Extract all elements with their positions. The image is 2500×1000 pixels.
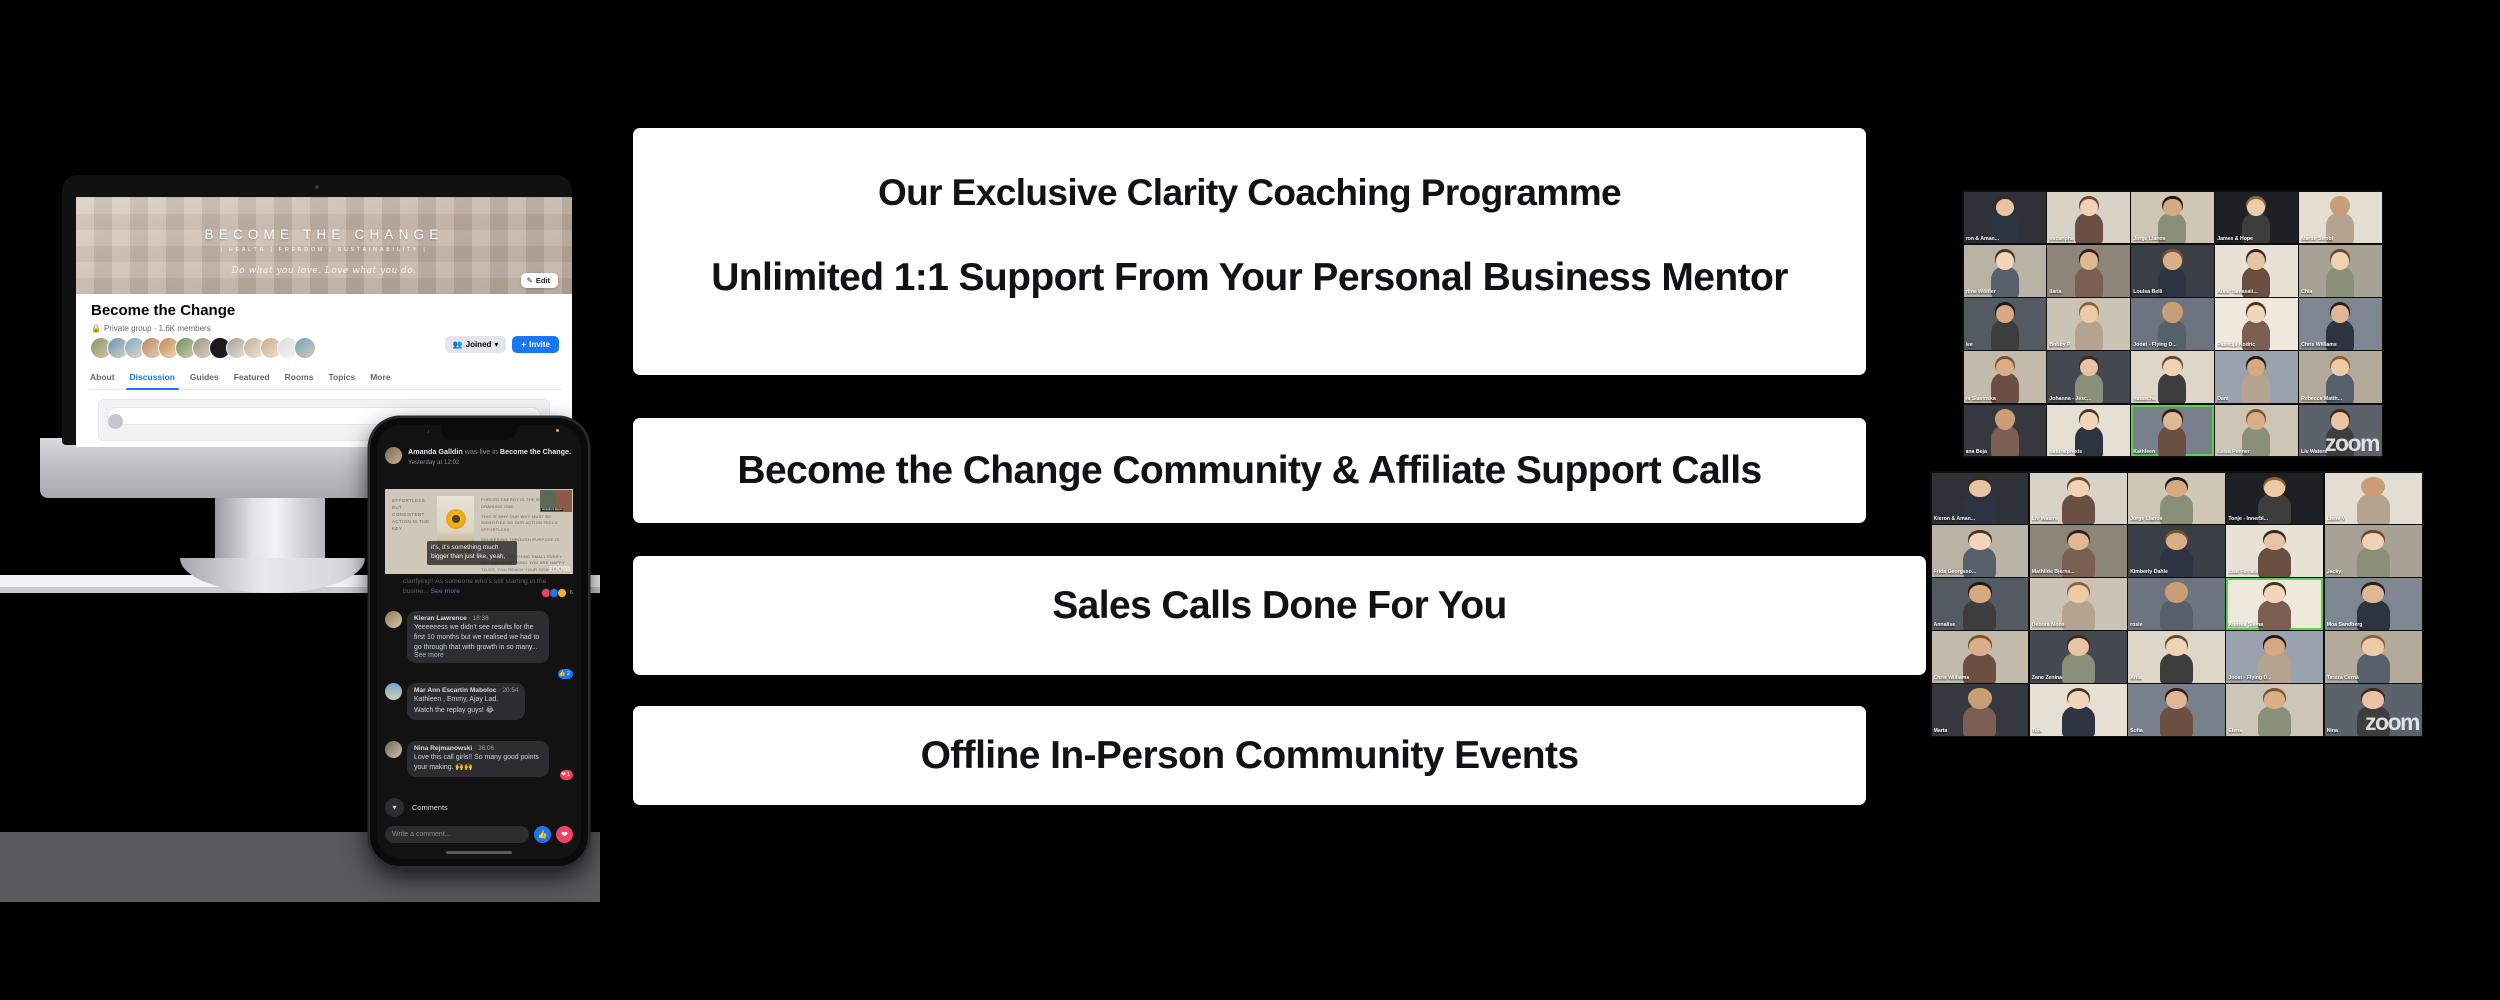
participant-body [2357, 547, 2390, 577]
chevron-down-icon: ▾ [494, 340, 498, 349]
fb-member-avatars [90, 337, 316, 359]
imac-display: BECOME THE CHANGE | HEALTH | FREEDOM | S… [62, 175, 572, 445]
participant-body [2242, 373, 2270, 403]
fb-cover-tagline: Do what you love. Love what you do. [76, 266, 572, 276]
participant-name-label: naturalpraxis [2049, 449, 2082, 455]
participant-face [2362, 638, 2383, 655]
avatar [385, 741, 402, 758]
participant-body [2158, 267, 2186, 297]
zoom-participant-tile[interactable]: Patricija Kodric [2215, 298, 2297, 350]
participant-name-label: Liene V [2327, 516, 2345, 522]
zoom-participant-tile[interactable]: rtine Wölfler [1964, 245, 2046, 297]
fb-cover-subtitle: | HEALTH | FREEDOM | SUSTAINABILITY | [76, 247, 572, 253]
care-reaction-icon [557, 588, 567, 598]
fb-live-video-player[interactable]: EFFORTLESS BUT CONSISTENT ACTION IS THE … [385, 489, 573, 574]
zoom-participant-tile[interactable]: ra Slavinska [1964, 351, 2046, 403]
zoom-participant-tile[interactable]: Chris Williams [1932, 631, 2029, 682]
card-sales: Sales Calls Done For You [633, 556, 1926, 675]
tab-featured[interactable]: Featured [234, 372, 270, 382]
fb-comment-text: Yeeeeeess we didn't see results for the … [414, 623, 542, 652]
poster-canvas:  BECOME THE CHANGE | HEALTH | FREEDOM |… [0, 0, 2500, 1000]
participant-body [2158, 426, 2186, 456]
participant-name-label: Ilaria [2049, 289, 2061, 295]
participant-name-label: Aiste Tamasait... [2217, 289, 2258, 295]
fb-comments-toggle-row[interactable]: ▾ Comments [385, 798, 573, 817]
participant-face [2080, 199, 2098, 217]
zoom-participant-tile[interactable]: Bobby P [2047, 298, 2129, 350]
participant-name-label: natascha [2133, 396, 2156, 402]
avatar [294, 337, 316, 359]
plus-icon: + [521, 340, 526, 349]
iphone-device: ♪ Amanda Galldin was live in Become the … [370, 418, 588, 866]
participant-name-label: Tereza Černá [2327, 675, 2359, 681]
participant-name-label: Frida Georgsso... [1934, 569, 1977, 575]
zoom-grid-bottom: zoom Kieron & Aman...Liv WatersJorge Lla… [1930, 471, 2423, 737]
participant-body [2062, 653, 2095, 683]
fb-post-action: was live in [463, 447, 500, 456]
zoom-participant-tile[interactable]: oscarlpha [2047, 192, 2129, 244]
participant-face [2264, 638, 2285, 655]
participant-name-label: Andrea Slama [2228, 622, 2263, 628]
card-clarity: Our Exclusive Clarity Coaching Programme… [633, 128, 1866, 375]
zoom-participant-tile[interactable]: Martin Strobl [2299, 192, 2381, 244]
participant-body [2160, 653, 2193, 683]
zoom-participant-tile[interactable]: Luisa Penner [2215, 405, 2297, 457]
card-community-heading: Become the Change Community & Affiliate … [737, 449, 1761, 493]
participant-name-label: Chris Williams [2301, 342, 2337, 348]
participant-face [2247, 252, 2265, 270]
comment-timestamp: 20:54 [502, 687, 518, 694]
zoom-participant-tile[interactable]: Annalise [1932, 578, 2029, 629]
participant-body [2062, 600, 2095, 630]
fb-post-header: Amanda Galldin was live in Become the Ch… [385, 447, 573, 466]
zoom-participant-tile[interactable]: Jorge Llanos [2131, 192, 2213, 244]
fb-comment-input-row: Write a comment... 👍 ❤ [385, 826, 573, 843]
tab-rooms[interactable]: Rooms [285, 372, 314, 382]
status-bar-icon: ♪ [427, 429, 430, 435]
participant-name-label: ra Slavinska [1966, 396, 1996, 402]
zoom-participant-tile[interactable]: Kathleen [2131, 405, 2213, 457]
home-indicator [446, 851, 512, 854]
participant-name-label: Tonje - Innerbl... [2228, 516, 2268, 522]
participant-name-label: Jorge Llanos [2130, 516, 2162, 522]
participant-face [2080, 412, 2098, 430]
fb-group-name: Become the Change [91, 302, 235, 319]
zoom-participant-tile[interactable]: Chia [2299, 245, 2381, 297]
participant-body [2062, 706, 2095, 736]
zoom-participant-tile[interactable]: ron & Aman... [1964, 192, 2046, 244]
fb-comment-text-2: Watch the replay guys! 😂 [414, 706, 518, 716]
lock-icon: 🔒 [91, 324, 101, 333]
participant-face [2264, 691, 2285, 708]
participant-body [2160, 600, 2193, 630]
slide-bullet-2: THIS IS WHY OUR WHY MUST BE IDENTIFIED S… [481, 514, 569, 534]
participant-name-label: lee [1966, 342, 1973, 348]
zoom-participant-tile[interactable]: Joost - Flying D... [2131, 298, 2213, 350]
participant-face [2362, 533, 2383, 550]
fb-joined-button[interactable]: 👥 Joined ▾ [445, 336, 507, 353]
fb-comment-truncated-text: clarifying!! As someone who's still star… [403, 578, 546, 595]
participant-face [2163, 412, 2181, 430]
comment-author-name: Mar Ann Escartin Maboloc [414, 687, 497, 694]
participant-name-label: Jacky [2327, 569, 2341, 575]
participant-face [2362, 480, 2383, 497]
participant-name-label: Chia [2301, 289, 2312, 295]
participant-body [2075, 213, 2103, 243]
separator-dot: · [474, 745, 476, 752]
participant-name-label: oscarlpha [2049, 236, 2074, 242]
zoom-participant-tile[interactable]: Jorge Llanos [2128, 473, 2225, 524]
fb-post-group: Become the Change. [500, 447, 571, 456]
zoom-participant-tile[interactable]: Debora Moos [2030, 578, 2127, 629]
reaction-count: 2 [567, 671, 570, 677]
avatar [385, 611, 402, 628]
fb-post-byline: Amanda Galldin was live in Become the Ch… [408, 447, 571, 457]
participant-face [2166, 638, 2187, 655]
like-button[interactable]: 👍 [534, 826, 551, 843]
participant-face [2068, 533, 2089, 550]
participant-name-label: ana Beja [1966, 449, 1987, 455]
zoom-participant-tile[interactable]: Joost - Flying D... [2226, 631, 2323, 682]
reaction-count: 1 [567, 772, 570, 778]
zoom-participant-tile[interactable]: Andrea Slama [2226, 578, 2323, 629]
like-reaction-icon: 👍 [559, 671, 566, 677]
comment-timestamp: 18:38 [473, 615, 489, 622]
participant-name-label: Kimberly Dahle [2130, 569, 2168, 575]
fb-comment-bubble: Kieran Lawrence · 18:38 Yeeeeeess we did… [407, 611, 549, 663]
zoom-participant-tile[interactable]: Jacky [2325, 525, 2422, 576]
fb-comment-bubble: Mar Ann Escartin Maboloc · 20:54 Kathlee… [407, 683, 525, 720]
participant-name-label: Elena [2228, 728, 2242, 734]
fb-comment-reaction-badge[interactable]: ❤ 1 [560, 770, 573, 780]
participant-face [2166, 533, 2187, 550]
fb-joined-label: Joined [466, 340, 492, 349]
participant-face [1996, 412, 2014, 430]
participant-body [2357, 494, 2390, 524]
comment-input[interactable]: Write a comment... [385, 826, 529, 843]
tab-about[interactable]: About [90, 372, 115, 382]
participant-body [2326, 426, 2354, 456]
participant-face [2362, 585, 2383, 602]
participant-name-label: Kathleen [2133, 449, 2155, 455]
participant-body [1991, 320, 2019, 350]
fb-reaction-cluster[interactable]: 6 [541, 588, 573, 598]
fb-post-author: Amanda Galldin [408, 447, 463, 456]
fb-comment-truncated: clarifying!! As someone who's still star… [403, 577, 551, 597]
participant-face [2080, 252, 2098, 270]
comment-author-name: Nina Rejmanowski [414, 745, 472, 752]
participant-face [2163, 359, 2181, 377]
participant-body [2075, 320, 2103, 350]
zoom-participant-tile[interactable]: James & Hope [2215, 192, 2297, 244]
pip-name-label: Amanda & Kieron [541, 508, 563, 511]
participant-name-label: ron & Aman... [1966, 236, 2000, 242]
avatar [385, 447, 402, 464]
zoom-participant-tile[interactable]: Lisa Ferrara [2226, 525, 2323, 576]
participant-name-label: Mathilde Bjerns... [2032, 569, 2075, 575]
zoom-participant-tile[interactable]: Ilaria [2047, 245, 2129, 297]
phone-screen: ♪ Amanda Galldin was live in Become the … [377, 425, 581, 859]
pencil-icon: ✎ [527, 276, 533, 285]
fb-comment-text: Love this call girls!! So many good poin… [414, 753, 542, 773]
tab-discussion[interactable]: Discussion [130, 372, 175, 382]
fb-nav-tabs: About Discussion Guides Featured Rooms T… [90, 372, 561, 390]
participant-face [2068, 585, 2089, 602]
zoom-participant-tile[interactable]: Mathilde Bjerns... [2030, 525, 2127, 576]
participant-body [1991, 426, 2019, 456]
zoom-participant-tile[interactable]: Rebecca Matth... [2299, 351, 2381, 403]
participant-body [2357, 706, 2390, 736]
zoom-participant-tile[interactable]: Tonje - Innerbl... [2226, 473, 2323, 524]
zoom-participant-tile[interactable]: Frida Georgsso... [1932, 525, 2029, 576]
participant-name-label: rosie [2130, 622, 2142, 628]
participant-face [1969, 638, 1990, 655]
participant-name-label: Debora Moos [2032, 622, 2065, 628]
fb-edit-cover-button[interactable]: ✎ Edit [521, 273, 558, 288]
avatar [385, 683, 402, 700]
fb-edit-label: Edit [536, 276, 550, 285]
fb-invite-button[interactable]: + Invite [512, 336, 559, 353]
zoom-participant-tile[interactable]: Liv Waters [2030, 473, 2127, 524]
zoom-participant-tile[interactable]: Dani [2215, 351, 2297, 403]
zoom-participant-tile[interactable]: Nina [2325, 684, 2422, 735]
participant-name-label: Joost - Flying D... [2228, 675, 2271, 681]
participant-name-label: Liv Waters [2032, 516, 2058, 522]
zoom-participant-tile[interactable]: Louisa Belli [2131, 245, 2213, 297]
participant-body [2258, 547, 2291, 577]
card-sales-heading: Sales Calls Done For You [1052, 584, 1506, 628]
participant-name-label: Dani [2217, 396, 2228, 402]
fb-comment-author: Kieran Lawrence · 18:38 [414, 615, 542, 622]
participant-name-label: Tom [2032, 728, 2043, 734]
participant-face [2163, 305, 2181, 323]
participant-name-label: Joost - Flying D... [2133, 342, 2176, 348]
separator-dot: · [469, 615, 471, 622]
tab-guides[interactable]: Guides [190, 372, 219, 382]
participant-body [2160, 494, 2193, 524]
recording-indicator-icon [556, 429, 559, 432]
participant-body [2258, 706, 2291, 736]
comments-label: Comments [412, 803, 448, 812]
card-offline-heading: Offline In-Person Community Events [921, 734, 1579, 778]
participant-face [1969, 585, 1990, 602]
fb-cover-photo: BECOME THE CHANGE | HEALTH | FREEDOM | S… [76, 197, 572, 294]
participant-name-label: Johanna - Jesc... [2049, 396, 2091, 402]
participant-face [2166, 480, 2187, 497]
zoom-participant-tile[interactable]: rosie [2128, 578, 2225, 629]
participant-body [2160, 706, 2193, 736]
video-pip-tile: Amanda & Kieron [540, 490, 572, 512]
zoom-grid-top: zoom ron & Aman...oscarlphaJorge LlanosJ… [1962, 190, 2383, 458]
participant-face [2080, 359, 2098, 377]
zoom-participant-tile[interactable]: Kieron & Aman... [1932, 473, 2029, 524]
fb-comment-author: Mar Ann Escartin Maboloc · 20:54 [414, 687, 518, 694]
participant-face [1996, 252, 2014, 270]
imac-camera-icon [315, 185, 319, 189]
see-more-link[interactable]: See more [431, 588, 460, 595]
participant-name-label: Lisa Ferrara [2228, 569, 2258, 575]
zoom-participant-tile[interactable]: Elena [2226, 684, 2323, 735]
tab-topics[interactable]: Topics [328, 372, 355, 382]
zoom-participant-tile[interactable]: Johanna - Jesc... [2047, 351, 2129, 403]
participant-name-label: James & Hope [2217, 236, 2253, 242]
fb-comment-author: Nina Rejmanowski · 36:06 [414, 745, 542, 752]
people-icon: 👥 [453, 340, 463, 349]
phone-notch [441, 425, 517, 440]
fb-group-meta: 🔒 Private group · 1.6K members [91, 324, 211, 333]
zoom-participant-tile[interactable]: ana Beja [1964, 405, 2046, 457]
participant-body [2062, 494, 2095, 524]
slide-left-text: EFFORTLESS BUT CONSISTENT ACTION IS THE … [392, 497, 432, 533]
zoom-participant-tile[interactable]: natascha [2131, 351, 2213, 403]
participant-face [1996, 305, 2014, 323]
avatar [108, 414, 123, 429]
participant-face [2163, 252, 2181, 270]
participant-name-label: Zane Zenina [2032, 675, 2062, 681]
zoom-participant-tile[interactable]: Marta [1932, 684, 2029, 735]
participant-name-label: Kieron & Aman... [1934, 516, 1976, 522]
participant-body [2075, 267, 2103, 297]
participant-name-label: Arita [2130, 675, 2142, 681]
see-more-link[interactable]: See more [414, 652, 542, 659]
live-caption: it's, it's something much bigger than ju… [427, 541, 517, 565]
participant-name-label: Louisa Belli [2133, 289, 2162, 295]
participant-name-label: Nina [2327, 728, 2338, 734]
card-community: Become the Change Community & Affiliate … [633, 418, 1866, 523]
zoom-participant-tile[interactable]: Arita [2128, 631, 2225, 682]
participant-name-label: Jorge Llanos [2133, 236, 2165, 242]
imac-screen: BECOME THE CHANGE | HEALTH | FREEDOM | S… [76, 197, 572, 447]
participant-face [1996, 359, 2014, 377]
zoom-participant-tile[interactable]: naturalpraxis [2047, 405, 2129, 457]
participant-name-label: Patricija Kodric [2217, 342, 2255, 348]
fb-invite-label: Invite [529, 340, 550, 349]
participant-face [2166, 585, 2187, 602]
fb-group-meta-label: Private group · 1.6K members [104, 324, 211, 333]
zoom-participant-tile[interactable]: Zane Zenina [2030, 631, 2127, 682]
tab-more[interactable]: More [370, 372, 390, 382]
zoom-participant-tile[interactable]: Kimberly Dahle [2128, 525, 2225, 576]
participant-face [2331, 412, 2349, 430]
participant-name-label: Chris Williams [1934, 675, 1970, 681]
participant-face [2331, 252, 2349, 270]
participant-face [1996, 199, 2014, 217]
zoom-participant-tile[interactable]: Tom [2030, 684, 2127, 735]
participant-body [2258, 600, 2291, 630]
participant-face [2068, 480, 2089, 497]
participant-name-label: Moa Sandberg [2327, 622, 2363, 628]
zoom-participant-tile[interactable]: Liene V [2325, 473, 2422, 524]
participant-name-label: Sofia [2130, 728, 2143, 734]
participant-face [2080, 305, 2098, 323]
fb-group-actions: 👥 Joined ▾ + Invite [445, 336, 559, 353]
participant-face [1969, 480, 1990, 497]
fb-comment-item: Kieran Lawrence · 18:38 Yeeeeeess we did… [385, 611, 573, 663]
zoom-participant-tile[interactable]: Moa Sandberg [2325, 578, 2422, 629]
card-offline: Offline In-Person Community Events [633, 706, 1866, 805]
participant-face [2166, 691, 2187, 708]
fb-comment-text: Kathleen , Emmy, Ajay Lad. [414, 695, 518, 705]
zoom-watermark: zoom [549, 563, 571, 573]
fb-post-timestamp: Yesterday at 12:02 · [408, 459, 571, 466]
zoom-participant-tile[interactable]: Tereza Černá [2325, 631, 2422, 682]
participant-name-label: Liv Waters [2301, 449, 2327, 455]
participant-name-label: Rebecca Matth... [2301, 396, 2342, 402]
zoom-participant-tile[interactable]: Liv Waters [2299, 405, 2381, 457]
zoom-participant-tile[interactable]: Sofia [2128, 684, 2225, 735]
zoom-participant-tile[interactable]: Chris Williams [2299, 298, 2381, 350]
fb-comment-item: Nina Rejmanowski · 36:06 Love this call … [385, 741, 573, 777]
participant-name-label: Annalise [1934, 622, 1956, 628]
love-reaction-icon: ❤ [561, 772, 566, 778]
fb-comment-bubble: Nina Rejmanowski · 36:06 Love this call … [407, 741, 549, 777]
sunflower-icon [446, 509, 466, 529]
fb-comment-reaction-badge[interactable]: 👍 2 [558, 669, 573, 679]
participant-face [2068, 638, 2089, 655]
participant-name-label: Marta [1934, 728, 1948, 734]
zoom-participant-tile[interactable]: lee [1964, 298, 2046, 350]
participant-face [2362, 691, 2383, 708]
participant-face [1969, 533, 1990, 550]
card-clarity-heading-2: Unlimited 1:1 Support From Your Personal… [711, 256, 1788, 300]
comment-author-name: Kieran Lawrence [414, 615, 467, 622]
chevron-down-icon[interactable]: ▾ [385, 798, 404, 817]
participant-face [2068, 691, 2089, 708]
comment-timestamp: 36:06 [478, 745, 494, 752]
participant-body [2357, 653, 2390, 683]
participant-face [2163, 199, 2181, 217]
participant-face [2247, 412, 2265, 430]
love-button[interactable]: ❤ [556, 826, 573, 843]
zoom-participant-tile[interactable]: Aiste Tamasait... [2215, 245, 2297, 297]
fb-cover-title: BECOME THE CHANGE [76, 227, 572, 242]
participant-body [2326, 267, 2354, 297]
separator-dot: · [498, 687, 500, 694]
participant-name-label: rtine Wölfler [1966, 289, 1996, 295]
participant-body [1963, 706, 1996, 736]
fb-comment-item: Mar Ann Escartin Maboloc · 20:54 Kathlee… [385, 683, 573, 720]
reaction-count: 6 [570, 590, 573, 596]
participant-name-label: Martin Strobl [2301, 236, 2333, 242]
participant-face [1969, 691, 1990, 708]
participant-body [1963, 600, 1996, 630]
card-clarity-heading-1: Our Exclusive Clarity Coaching Programme [878, 172, 1621, 214]
participant-name-label: Luisa Penner [2217, 449, 2250, 455]
participant-name-label: Bobby P [2049, 342, 2070, 348]
participant-body [2158, 373, 2186, 403]
